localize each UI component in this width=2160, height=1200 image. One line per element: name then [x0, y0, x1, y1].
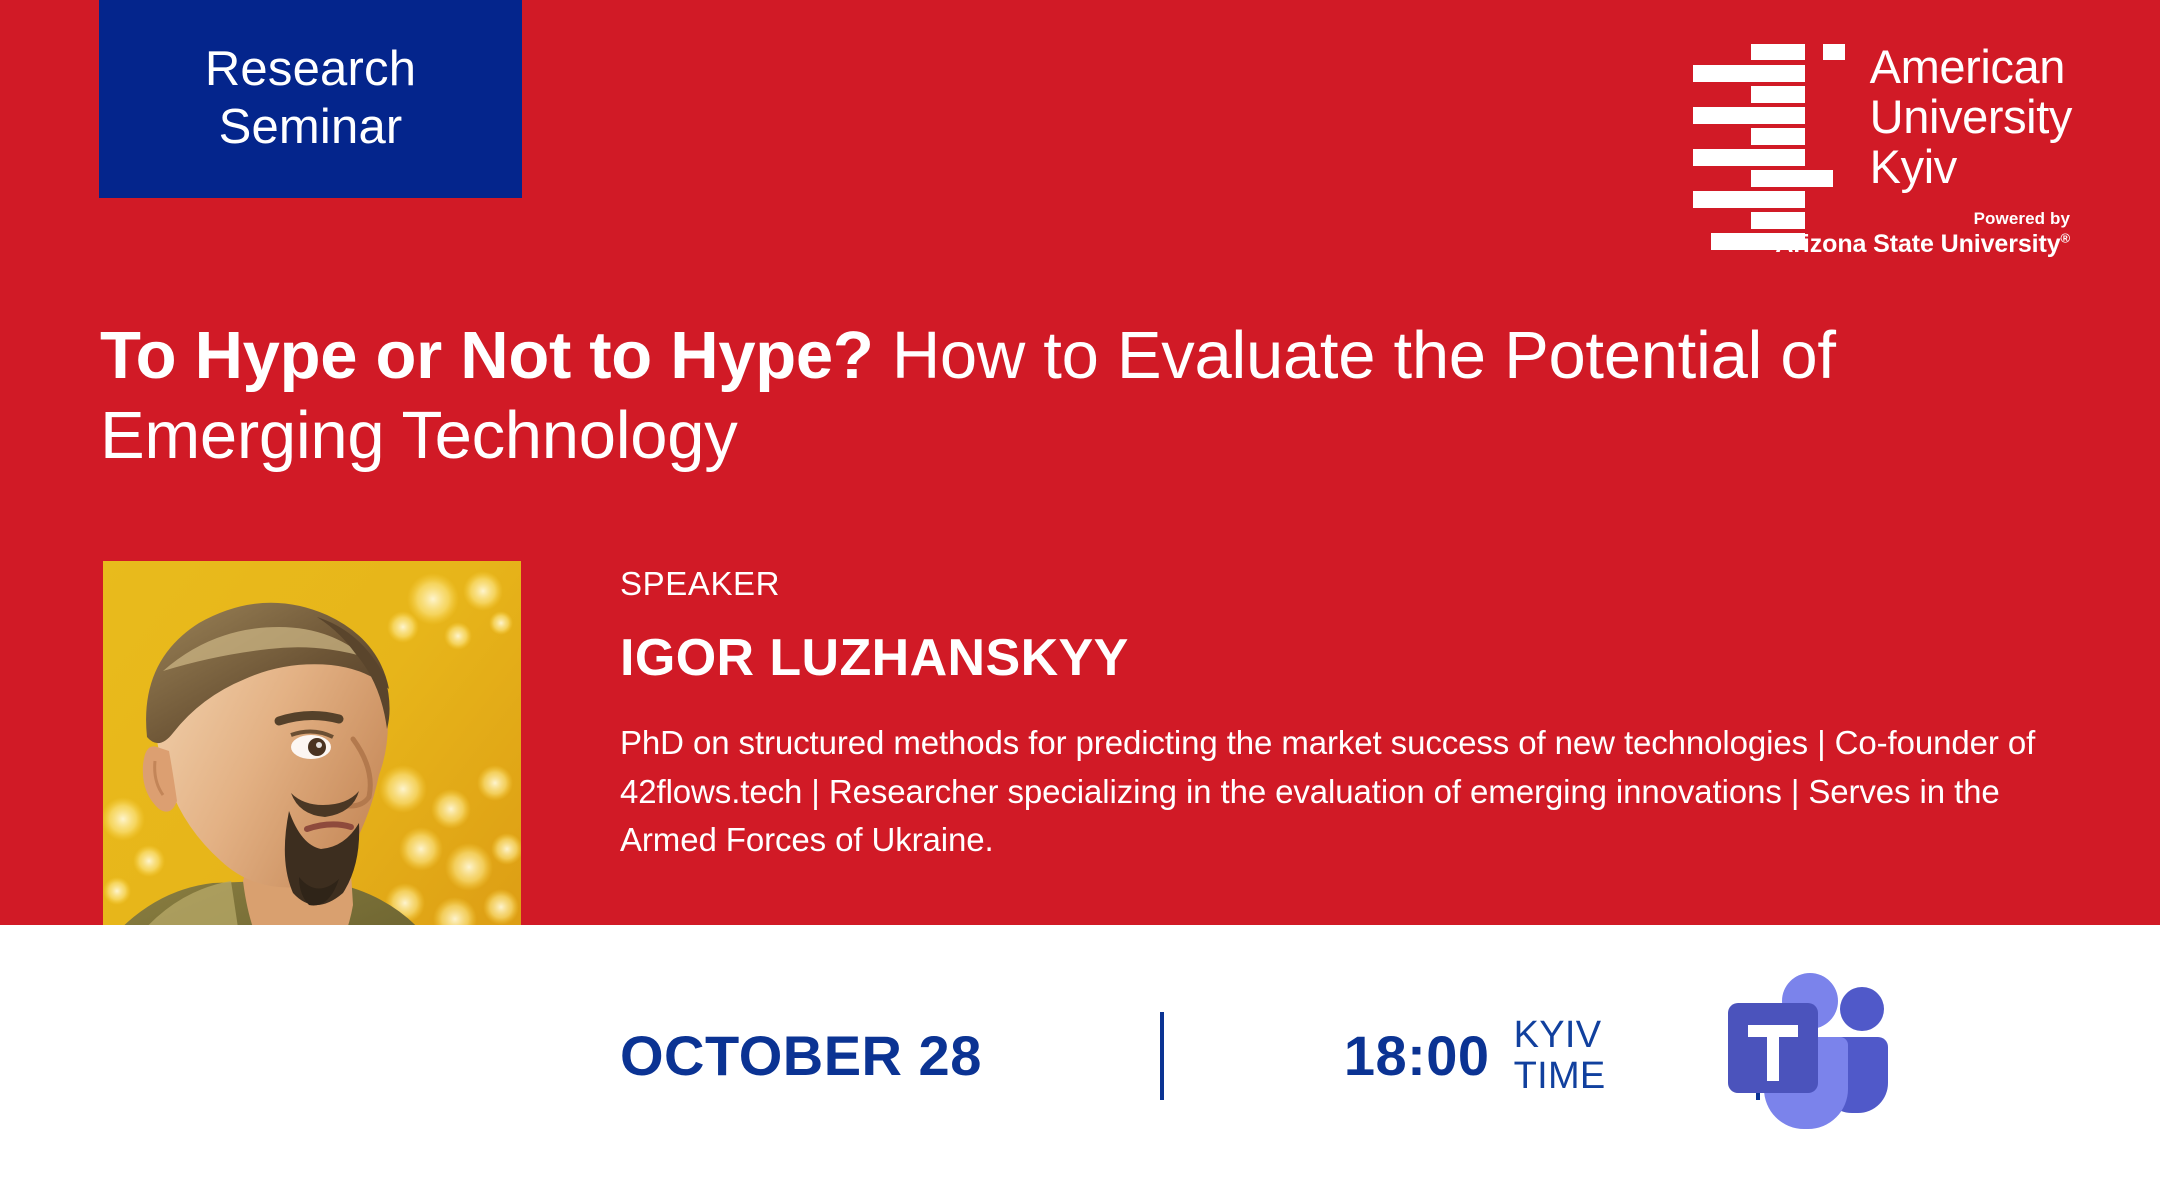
registered-trademark-symbol: ®: [2061, 231, 2070, 246]
divider-1: [1160, 1012, 1164, 1100]
speaker-name: IGOR LUZHANSKYY: [620, 630, 2050, 687]
speaker-bio: PhD on structured methods for predicting…: [620, 719, 2050, 864]
speaker-label: SPEAKER: [620, 566, 2050, 602]
event-time-group: 18:00 KYIV TIME: [1344, 1015, 1606, 1097]
american-university-kyiv-logo: American University Kyiv Powered by Ariz…: [1693, 38, 2072, 259]
logo-row: American University Kyiv: [1693, 38, 2072, 192]
event-timezone: KYIV TIME: [1514, 1015, 1606, 1097]
research-seminar-badge: Research Seminar: [99, 0, 522, 198]
logo-wordmark: American University Kyiv: [1870, 38, 2072, 191]
microsoft-teams-glyph: [1714, 965, 1894, 1135]
research-seminar-badge-label: Research Seminar: [205, 41, 416, 157]
american-university-kyiv-mark-icon: [1693, 44, 1845, 192]
event-date: OCTOBER 28: [620, 1028, 982, 1084]
page-title-emphasis: To Hype or Not to Hype?: [100, 318, 874, 393]
speaker-info: SPEAKER IGOR LUZHANSKYY PhD on structure…: [620, 566, 2050, 864]
event-announcement-poster: Research Seminar American University Kyi…: [0, 0, 2160, 1200]
page-title: To Hype or Not to Hype? How to Evaluate …: [100, 316, 2060, 477]
microsoft-teams-icon: [1714, 965, 1894, 1135]
partner-university-name: Arizona State University®: [1775, 229, 2070, 259]
event-time: 18:00: [1344, 1028, 1490, 1084]
partner-name-text: Arizona State University: [1775, 230, 2060, 258]
powered-by-label: Powered by: [1775, 208, 2070, 229]
event-details-row: OCTOBER 28 18:00 KYIV TIME: [620, 1010, 1760, 1102]
powered-by-block: Powered by Arizona State University®: [1775, 208, 2070, 259]
